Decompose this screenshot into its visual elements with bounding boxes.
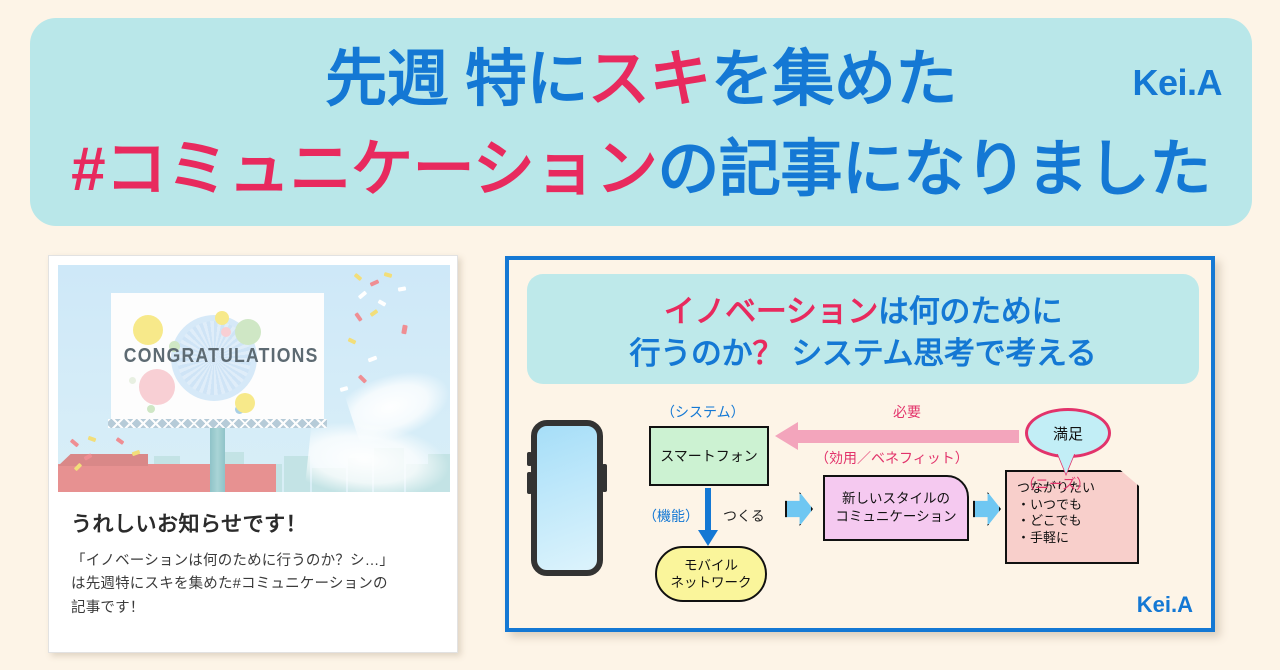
diagram-heading-line2-segment-2: ？	[752, 336, 783, 371]
diagram-heading-banner: イノベーションは何のために 行うのか？ システム思考で考える	[527, 274, 1199, 384]
decor-dot	[139, 369, 175, 405]
banner-line2-segment-1: #コミュニケーション	[71, 135, 657, 204]
label-system: （システム）	[661, 402, 745, 422]
billboard-panel: CONGRATULATIONS	[111, 293, 324, 419]
banner-line1-segment-1: 先週 特に	[325, 45, 588, 114]
label-needs: （ニーズ）	[1021, 474, 1090, 494]
notice-desc-line: は先週特にスキを集めた#コミュニケーションの	[71, 573, 435, 596]
node-new-style-line2: コミュニケーション	[835, 508, 956, 526]
smartphone-illustration	[531, 420, 603, 576]
needs-note-item: ・いつでも	[1017, 497, 1137, 514]
node-new-style-line1: 新しいスタイルの	[842, 490, 950, 508]
banner-line2-segment-2: の記事になりました	[657, 135, 1211, 204]
decor-dot	[235, 393, 255, 413]
node-smartphone: スマートフォン	[649, 426, 769, 486]
phone-power-button-icon	[602, 464, 607, 492]
decor-dot	[129, 377, 136, 384]
banner-headline-line-1: 先週 特にスキを集めた	[30, 44, 1252, 116]
arrow-function-down	[705, 488, 711, 530]
arrow-right-icon	[973, 492, 1001, 526]
billboard-pole	[210, 428, 225, 492]
decor-dot	[215, 311, 229, 325]
needs-note-item: ・手軽に	[1017, 530, 1137, 547]
node-mobile-network: モバイル ネットワーク	[655, 546, 767, 602]
decor-dot	[221, 327, 231, 337]
node-new-style-communication: 新しいスタイルの コミュニケーション	[823, 475, 969, 541]
notice-card-title: うれしいお知らせです！	[71, 508, 435, 538]
notice-card[interactable]: CONGRATULATIONS うれしいお知らせです！ 「イノベーションは何のた…	[48, 255, 458, 653]
diagram-heading-line2-segment-3: システム思考で考える	[783, 336, 1096, 371]
decor-dot	[235, 319, 261, 345]
notice-card-description: 「イノベーションは何のために行うのか？シ…」 は先週特にスキを集めた#コミュニケ…	[71, 550, 435, 620]
diagram-heading-line-1: イノベーションは何のために	[527, 286, 1199, 331]
label-necessary: 必要	[893, 402, 921, 422]
node-mobile-network-line1: モバイル	[684, 557, 738, 574]
notice-card-body: うれしいお知らせです！ 「イノベーションは何のために行うのか？シ…」 は先週特に…	[49, 508, 457, 620]
header-banner: 先週 特にスキを集めた #コミュニケーションの記事になりました Kei.A	[30, 18, 1252, 226]
label-benefit: （効用／ベネフィット）	[815, 448, 969, 468]
decor-dot	[133, 315, 163, 345]
notice-desc-line: 「イノベーションは何のために行うのか？シ…」	[71, 550, 435, 573]
diagram-heading-line1-segment-1: イノベーション	[664, 294, 878, 329]
banner-headline-line-2: #コミュニケーションの記事になりました	[30, 134, 1252, 206]
node-mobile-network-line2: ネットワーク	[671, 574, 752, 591]
congratulations-illustration: CONGRATULATIONS	[58, 265, 450, 492]
diagram-heading-line1-segment-2: は何のために	[878, 294, 1062, 329]
diagram-heading-line-2: 行うのか？ システム思考で考える	[527, 328, 1199, 373]
needs-note-item: ・どこでも	[1017, 513, 1137, 530]
billboard-text: CONGRATULATIONS	[124, 345, 311, 368]
skyline-red-roof	[58, 464, 276, 492]
diagram-author-credit: Kei.A	[1137, 592, 1193, 618]
decor-dot	[147, 405, 155, 413]
banner-line1-segment-3: を集めた	[711, 45, 957, 114]
banner-author-credit: Kei.A	[1132, 62, 1222, 104]
arrow-right-icon	[785, 492, 813, 526]
banner-line1-segment-2: スキ	[588, 45, 711, 114]
node-satisfaction-bubble: 満足	[1025, 408, 1111, 458]
diagram-panel[interactable]: イノベーションは何のために 行うのか？ システム思考で考える （システム） スマ…	[505, 256, 1215, 632]
label-function: （機能）	[643, 506, 699, 526]
notice-desc-line: 記事です！	[71, 597, 435, 620]
arrow-necessary-left	[797, 430, 1019, 443]
diagram-heading-line2-segment-1: 行うのか	[630, 336, 753, 371]
bubble-tail-icon	[1057, 452, 1075, 474]
billboard-truss	[108, 419, 327, 428]
label-make: つくる	[723, 506, 765, 526]
